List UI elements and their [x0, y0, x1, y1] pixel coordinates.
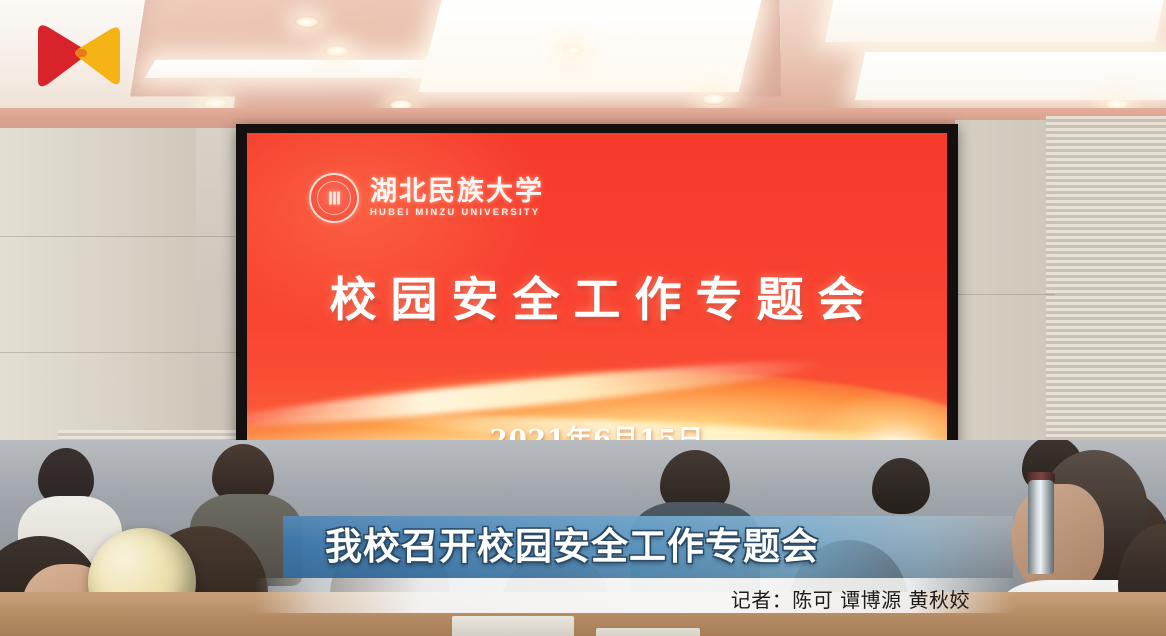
university-name-block: 湖北民族大学 HUBEI MINZU UNIVERSITY: [370, 178, 544, 218]
lower-third-credit: 记者：陈可 谭博源 黄秋姣: [731, 584, 970, 613]
wall-seam: [0, 236, 240, 237]
attendee-head: [872, 458, 930, 514]
university-emblem-glyph: ΙΙΙ: [328, 188, 340, 209]
downlight-icon: [560, 44, 586, 56]
university-name-cn: 湖北民族大学: [370, 178, 544, 205]
ceiling-light-slot-d: [855, 52, 1166, 100]
broadcaster-logo: [24, 18, 132, 94]
university-name-en: HUBEI MINZU UNIVERSITY: [370, 207, 544, 218]
university-emblem-icon: ΙΙΙ: [309, 173, 359, 223]
lower-third-headline: 我校召开校园安全工作专题会: [325, 524, 819, 570]
wall-seam: [955, 294, 1055, 295]
ceiling-light-slot-c: [825, 0, 1166, 42]
slide-title: 校园安全工作专题会: [247, 261, 947, 330]
vacuum-flask: [1028, 480, 1054, 574]
ceiling-light-slot-b: [419, 0, 762, 92]
m-bowtie-logo-icon: [24, 18, 132, 94]
document-on-table: [452, 616, 574, 636]
ceiling: [0, 0, 1166, 118]
video-frame: ΙΙΙ 湖北民族大学 HUBEI MINZU UNIVERSITY 校园安全工作…: [0, 0, 1166, 636]
wall-seam: [0, 352, 240, 353]
document-on-table: [596, 628, 700, 636]
downlight-icon: [324, 45, 350, 57]
downlight-icon: [701, 93, 727, 105]
downlight-icon: [294, 16, 320, 28]
attendee-face: [1012, 484, 1104, 592]
university-identity: ΙΙΙ 湖北民族大学 HUBEI MINZU UNIVERSITY: [309, 173, 544, 223]
